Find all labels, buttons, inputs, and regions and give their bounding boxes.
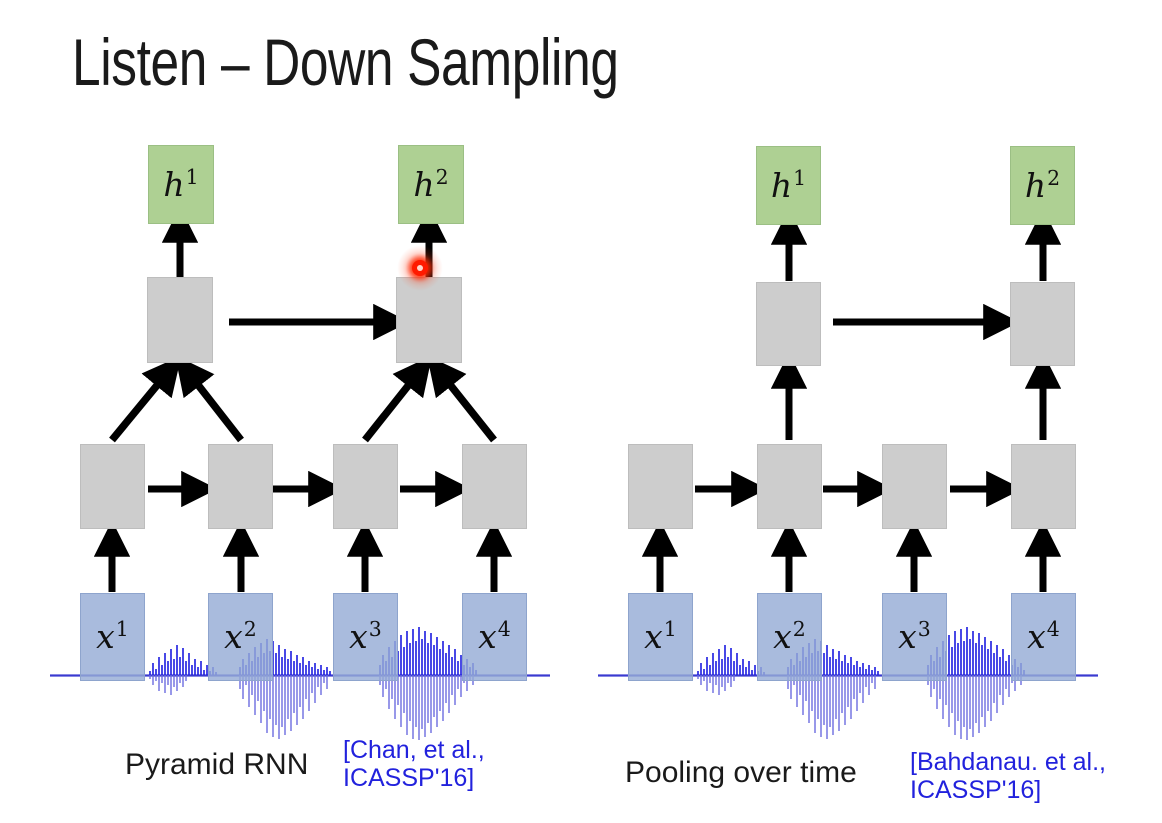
input-box-x3-right: x3: [882, 593, 947, 681]
page-title: Listen – Down Sampling: [72, 24, 619, 100]
slide-canvas: Listen – Down Sampling: [0, 0, 1162, 823]
input-box-x2-left: x2: [208, 593, 273, 681]
input-label-x3-right: x3: [898, 619, 931, 653]
citation-pooling-over-time: [Bahdanau. et al., ICASSP'16]: [910, 748, 1106, 804]
citation-line-2-right: ICASSP'16]: [910, 776, 1106, 804]
left-pyramid-merge-arrows: [112, 372, 494, 440]
right-output-arrows: [789, 228, 1043, 281]
hidden-cell-4-right: [1011, 444, 1076, 529]
input-box-x1-right: x1: [628, 593, 693, 681]
right-subsample-arrows: [789, 372, 1043, 440]
caption-pooling-over-time: Pooling over time: [625, 756, 857, 790]
citation-line-2-left: ICASSP'16]: [343, 764, 485, 792]
citation-line-1-right: [Bahdanau. et al.,: [910, 748, 1106, 776]
hidden-cell-2-right: [757, 444, 822, 529]
hidden-cell-3-left: [333, 444, 398, 529]
hidden-cell-4-left: [462, 444, 527, 529]
left-output-arrows: [180, 226, 429, 277]
laser-pointer-core: [412, 260, 428, 276]
input-label-x1-left: x1: [96, 619, 129, 653]
hidden-cell-1-left: [80, 444, 145, 529]
output-label-h1-left: h1: [163, 167, 198, 201]
input-box-x4-left: x4: [462, 593, 527, 681]
input-box-x1-left: x1: [80, 593, 145, 681]
input-label-x1-right: x1: [644, 619, 677, 653]
hidden-cell-2-left: [208, 444, 273, 529]
input-label-x4-left: x4: [478, 619, 511, 653]
caption-pyramid-rnn: Pyramid RNN: [125, 748, 308, 782]
hidden-cell-3-right: [882, 444, 947, 529]
citation-line-1-left: [Chan, et al.,: [343, 736, 485, 764]
output-box-h2-right: h2: [1010, 146, 1075, 225]
input-box-x3-left: x3: [333, 593, 398, 681]
input-box-x4-right: x4: [1011, 593, 1076, 681]
output-box-h2-left: h2: [398, 145, 464, 224]
input-box-x2-right: x2: [757, 593, 822, 681]
top-cell-2-left: [396, 277, 462, 363]
left-input-arrows: [112, 540, 494, 592]
right-input-arrows: [660, 540, 1043, 592]
output-label-h2-right: h2: [1025, 168, 1060, 202]
output-box-h1-left: h1: [148, 145, 214, 224]
hidden-cell-1-right: [628, 444, 693, 529]
top-cell-1-right: [756, 282, 821, 366]
output-label-h2-left: h2: [413, 167, 448, 201]
output-label-h1-right: h1: [771, 168, 806, 202]
citation-pyramid-rnn: [Chan, et al., ICASSP'16]: [343, 736, 485, 792]
input-label-x2-left: x2: [224, 619, 257, 653]
top-cell-2-right: [1010, 282, 1075, 366]
input-label-x2-right: x2: [773, 619, 806, 653]
output-box-h1-right: h1: [756, 146, 821, 225]
top-cell-1-left: [147, 277, 213, 363]
input-label-x3-left: x3: [349, 619, 382, 653]
input-label-x4-right: x4: [1027, 619, 1060, 653]
